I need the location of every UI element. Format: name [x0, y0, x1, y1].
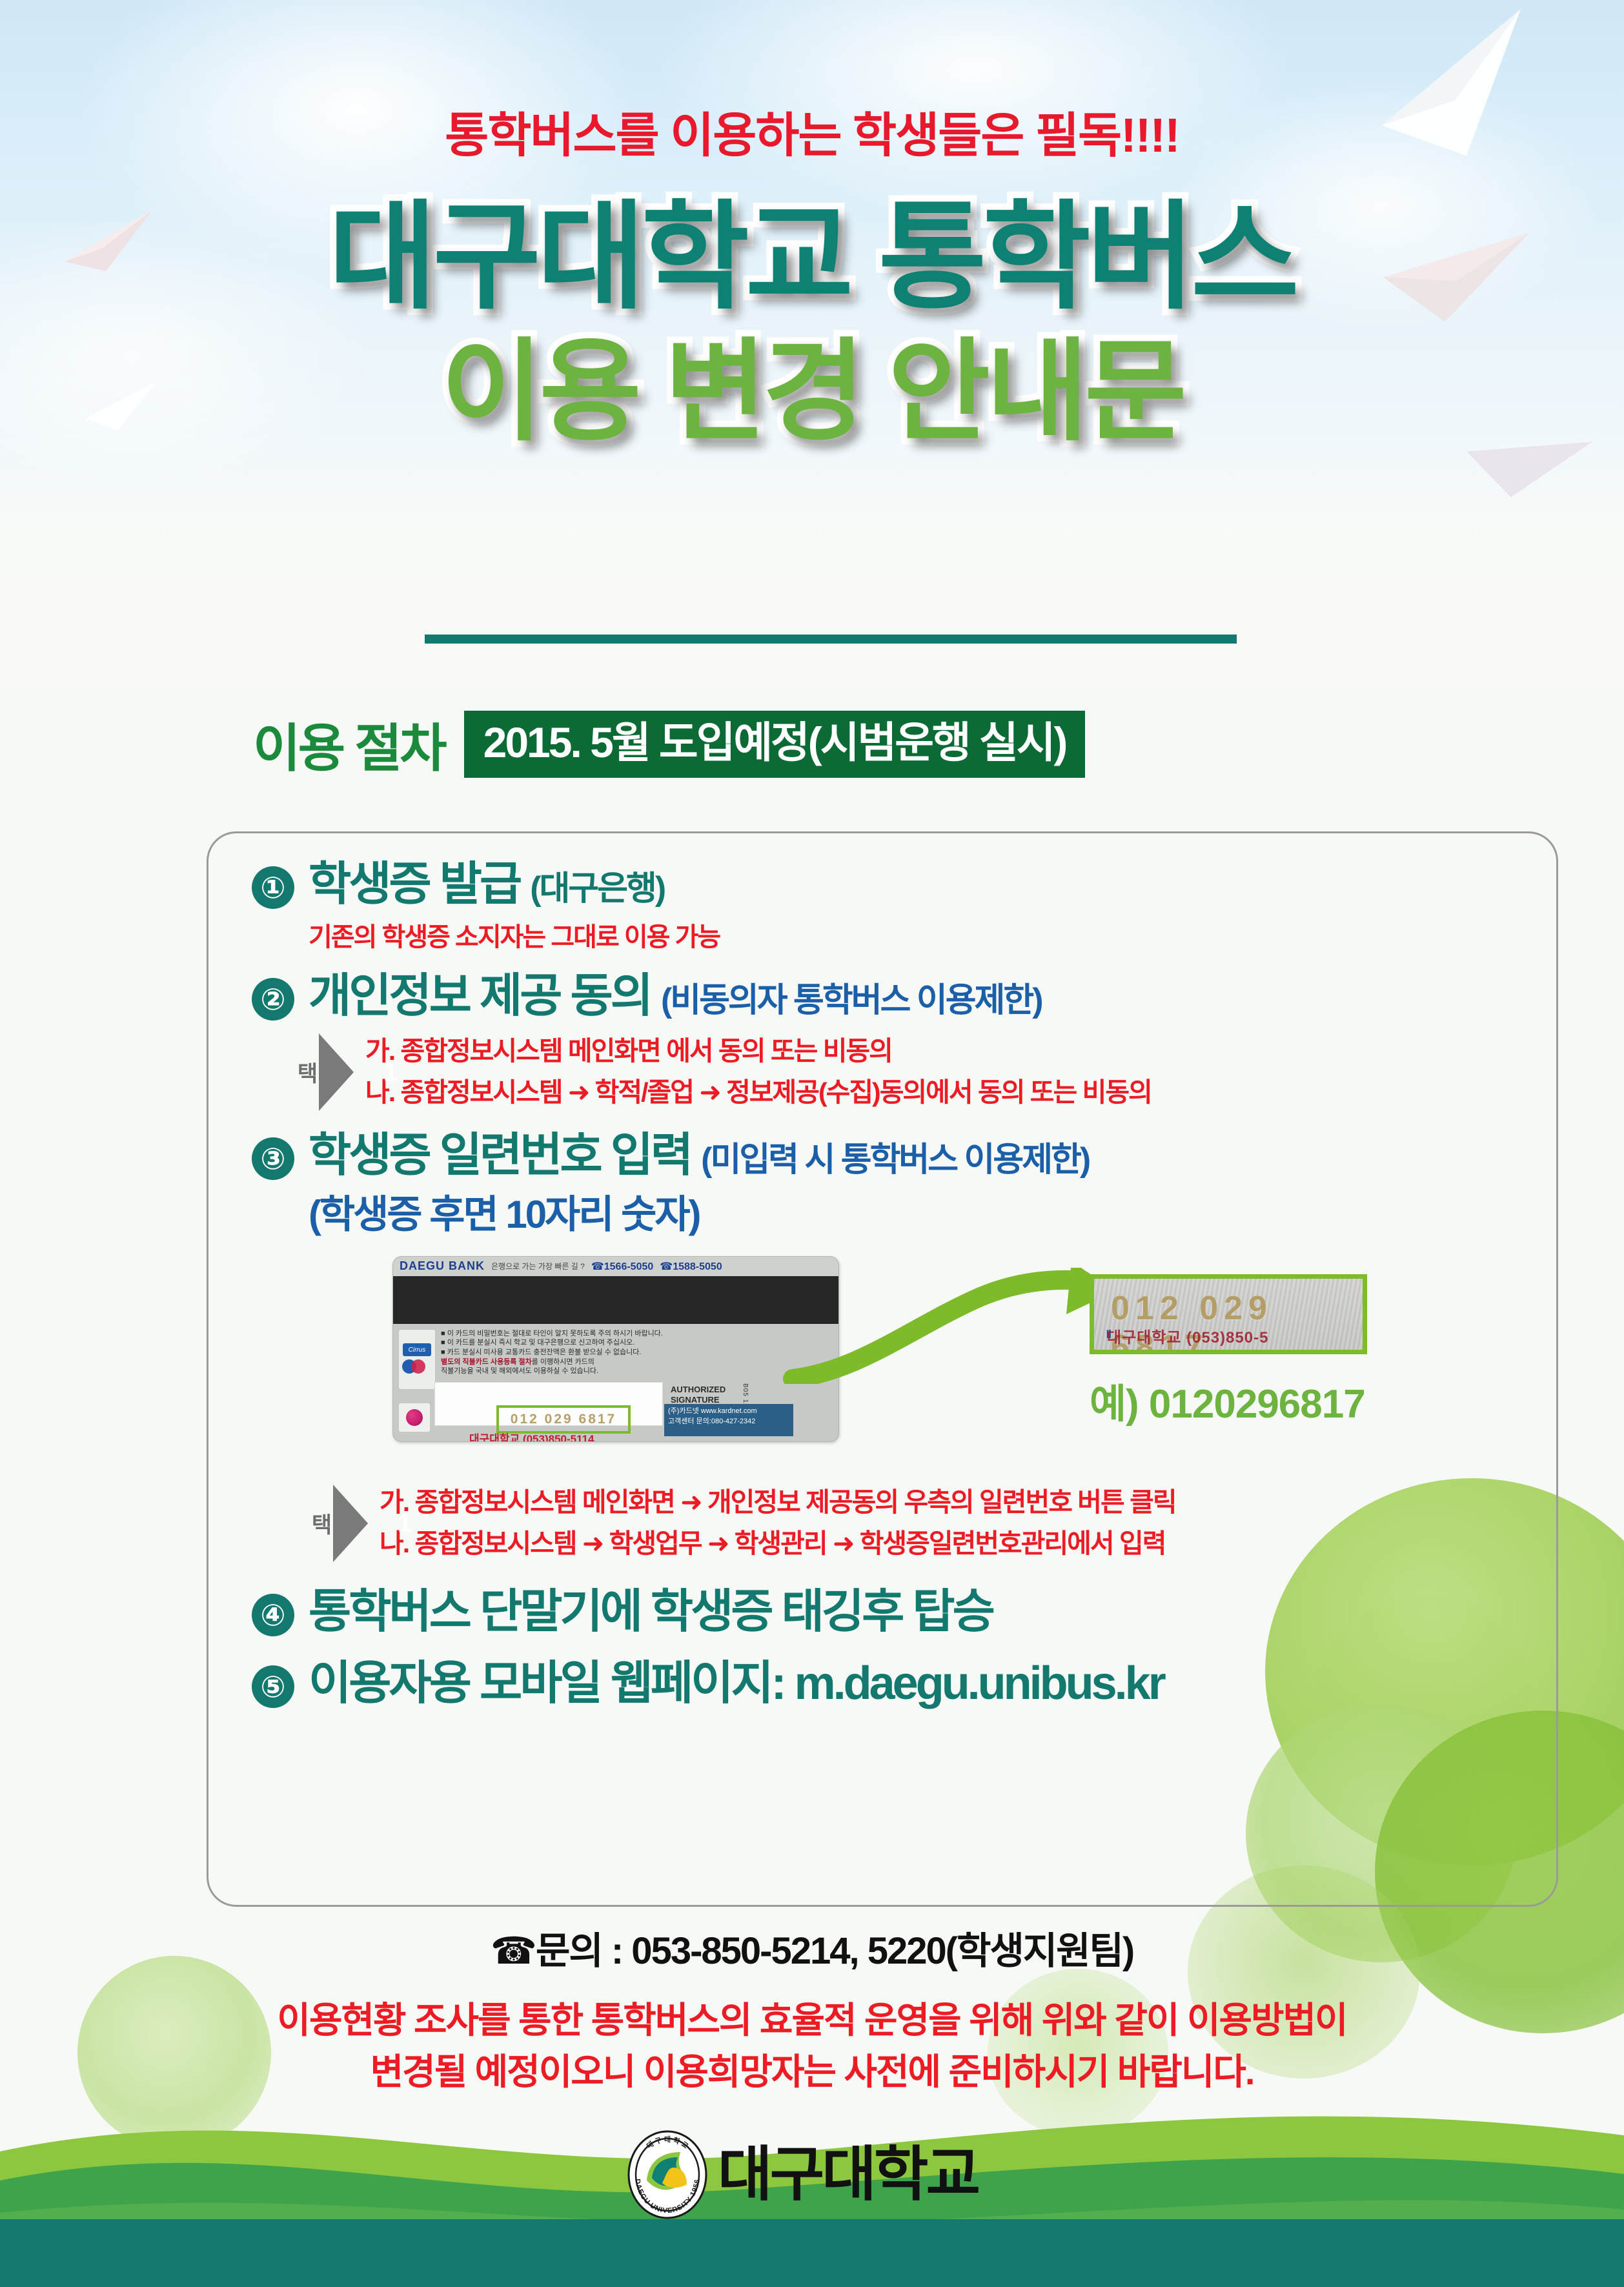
serial-callout: 012 029 6817 ᅵᅵ 대구대학교 (053)850-5 예) 0120… — [1090, 1274, 1451, 1429]
phone-icon: ☎ — [491, 1930, 536, 1972]
card-serial-number: 012 029 6817 — [511, 1412, 616, 1427]
choice-row: 가. 종합정보시스템 메인화면 ➜ 개인정보 제공동의 우측의 일련번호 버튼 … — [380, 1482, 1556, 1523]
step-heading: 개인정보 제공 동의 (비동의자 통학버스 이용제한) — [309, 970, 1556, 1022]
choice-group: 택 1 가. 종합정보시스템 메인화면 에서 동의 또는 비동의 나. 종합정보… — [294, 1031, 1556, 1113]
poster-title: 대구대학교 통학버스 이용 변경 안내문 — [0, 194, 1624, 452]
bank-name: DAEGU BANK — [400, 1259, 485, 1273]
step-heading-note: (대구은행) — [530, 870, 664, 908]
student-card-illustration: DAEGU BANK 은행으로 가는 가장 빠른 길 ? ☎1566-5050 … — [392, 1256, 1556, 1469]
choice-row: 가. 종합정보시스템 메인화면 에서 동의 또는 비동의 — [365, 1031, 1556, 1072]
step-item: ③ 학생증 일련번호 입력 (미입력 시 통학버스 이용제한) (학생증 후면 … — [252, 1130, 1556, 1564]
serial-example: 예) 0120296817 — [1090, 1371, 1451, 1429]
step-heading-main: 개인정보 제공 동의 — [309, 970, 661, 1022]
footer-note-line: 변경될 예정이오니 이용희망자는 사전에 준비하시기 바랍니다. — [0, 2046, 1624, 2098]
step-heading-main: 학생증 일련번호 입력 — [309, 1130, 701, 1181]
choice-badge: 택 1 — [294, 1032, 356, 1113]
step-number-badge: ④ — [252, 1594, 294, 1636]
step-heading-note: (미입력 시 통학버스 이용제한) — [701, 1141, 1089, 1179]
step-heading: 이용자용 모바일 웹페이지: m.daegu.unibus.kr — [309, 1658, 1556, 1710]
step-heading-note: (비동의자 통학버스 이용제한) — [661, 982, 1042, 1019]
choice-tag-label: 택 — [294, 1062, 316, 1083]
magnified-serial-box: 012 029 6817 ᅵᅵ 대구대학교 (053)850-5 — [1090, 1274, 1367, 1354]
magnified-red-fragment: 대구대학교 (053)850-5 — [1107, 1325, 1268, 1347]
card-warning-text: ■ 이 카드의 비밀번호는 절대로 타인이 알지 못하도록 주의 하시기 바랍니… — [441, 1329, 832, 1376]
step-heading: 통학버스 단말기에 학생증 태깅후 탑승 — [309, 1586, 1556, 1638]
step-item: ② 개인정보 제공 동의 (비동의자 통학버스 이용제한) — [252, 970, 1556, 1022]
university-logo: 대 구 대 학 교 DAEGU UNIVERSITY 1956 대구대학교 — [626, 2130, 978, 2219]
bank-tel-2: ☎1588-5050 — [660, 1260, 722, 1273]
title-divider — [425, 635, 1237, 644]
title-line-1: 대구대학교 통학버스 — [0, 194, 1624, 321]
step-heading-main: 학생증 발급 — [309, 859, 530, 910]
title-line-2: 이용 변경 안내문 — [0, 332, 1624, 452]
poster-root: 통학버스를 이용하는 학생들은 필독!!!! 대구대학교 통학버스 이용 변경 … — [0, 0, 1624, 2287]
debit-card-icon — [398, 1403, 431, 1432]
arrow-right-icon: 1 — [319, 1033, 354, 1111]
card-bottom-area: AUTHORIZEDSIGNATURE서 명 B05 1201H 012 029… — [393, 1399, 838, 1442]
card-network-logos: Cirrus — [398, 1329, 436, 1390]
choice-number: 1 — [383, 1059, 398, 1085]
magnetic-stripe — [393, 1276, 838, 1324]
green-curved-arrow-icon — [780, 1268, 1128, 1384]
card-university-line: 대구대학교 (053)850-5114 — [469, 1430, 594, 1442]
arrow-right-icon: 1 — [333, 1485, 368, 1562]
step-number-badge: ③ — [252, 1137, 294, 1180]
kardnet-block: (주)카드넷 www.kardnet.com 고객센터 문의:080-427-2… — [664, 1404, 793, 1436]
bank-tagline: 은행으로 가는 가장 빠른 길 ? — [491, 1261, 585, 1272]
kardnet-title: (주)카드넷 — [668, 1407, 699, 1415]
step-number-badge: ① — [252, 866, 294, 909]
daegu-university-emblem-icon: 대 구 대 학 교 DAEGU UNIVERSITY 1956 — [626, 2130, 709, 2219]
card-top-strip: DAEGU BANK 은행으로 가는 가장 빠른 길 ? ☎1566-5050 … — [393, 1257, 838, 1276]
footer-bar — [0, 2219, 1624, 2287]
step-item: ⑤ 이용자용 모바일 웹페이지: m.daegu.unibus.kr — [252, 1658, 1556, 1710]
choice-badge: 택 1 — [309, 1483, 370, 1564]
footer-note: 이용현황 조사를 통한 통학버스의 효율적 운영을 위해 위와 같이 이용방법이… — [0, 1995, 1624, 2097]
card-warning-highlight: 별도의 직불카드 사용등록 절차 — [441, 1358, 532, 1366]
card-warning-line: 별도의 직불카드 사용등록 절차를 이행하시면 카드의 — [441, 1357, 832, 1367]
step-heading: 학생증 발급 (대구은행) — [309, 859, 1556, 911]
step-number-badge: ② — [252, 978, 294, 1021]
bank-tel-1: ☎1566-5050 — [591, 1260, 653, 1273]
step-subline: 기존의 학생증 소지자는 그대로 이용 가능 — [309, 916, 1556, 953]
choice-group: 택 1 가. 종합정보시스템 메인화면 ➜ 개인정보 제공동의 우측의 일련번호… — [309, 1482, 1556, 1564]
bank-card-back: DAEGU BANK 은행으로 가는 가장 빠른 길 ? ☎1566-5050 … — [392, 1256, 839, 1442]
footer-note-line: 이용현황 조사를 통한 통학버스의 효율적 운영을 위해 위와 같이 이용방법이 — [0, 1995, 1624, 2046]
kardnet-contact: 고객센터 문의:080-427-2342 — [668, 1418, 755, 1425]
kicker-text: 통학버스를 이용하는 학생들은 필독!!!! — [0, 97, 1624, 166]
steps-list: ① 학생증 발급 (대구은행) 기존의 학생증 소지자는 그대로 이용 가능 ②… — [252, 859, 1556, 1709]
choice-tag-label: 택 — [309, 1513, 330, 1534]
step-number-badge: ⑤ — [252, 1665, 294, 1708]
university-wordmark: 대구대학교 — [718, 2145, 978, 2204]
maestro-icon — [402, 1358, 432, 1375]
contact-line: ☎문의 : 053-850-5214, 5220(학생지원팀) — [0, 1920, 1624, 1975]
choice-row: 나. 종합정보시스템 ➜ 학적/졸업 ➜ 정보제공(수집)동의에서 동의 또는 … — [365, 1072, 1556, 1113]
cirrus-icon: Cirrus — [403, 1343, 431, 1356]
choice-row: 나. 종합정보시스템 ➜ 학생업무 ➜ 학생관리 ➜ 학생증일련번호관리에서 입… — [380, 1523, 1556, 1565]
contact-text: 문의 : 053-850-5214, 5220(학생지원팀) — [536, 1930, 1133, 1972]
step-item: ① 학생증 발급 (대구은행) 기존의 학생증 소지자는 그대로 이용 가능 — [252, 859, 1556, 953]
step-heading-line2: (학생증 후면 10자리 숫자) — [309, 1183, 1556, 1239]
section-header: 이용 절차 2015. 5월 도입예정(시범운행 실시) — [253, 707, 1085, 782]
step-heading: 학생증 일련번호 입력 (미입력 시 통학버스 이용제한) — [309, 1130, 1556, 1182]
step-item: ④ 통학버스 단말기에 학생증 태깅후 탑승 — [252, 1586, 1556, 1638]
section-banner: 2015. 5월 도입예정(시범운행 실시) — [464, 711, 1086, 778]
card-warning-line: ■ 이 카드의 비밀번호는 절대로 타인이 알지 못하도록 주의 하시기 바랍니… — [441, 1329, 832, 1339]
card-warning-line: ■ 이 카드를 분실시 즉시 학교 및 대구은행으로 신고하여 주십시오. — [441, 1338, 832, 1348]
card-warning-line: 직불기능을 국내 및 해외에서도 이용하실 수 있습니다. — [441, 1367, 832, 1376]
choice-number: 1 — [398, 1510, 412, 1536]
kardnet-url: www.kardnet.com — [701, 1407, 757, 1415]
card-warning-line: ■ 카드 분실시 미사용 교통카드 충전잔액은 환불 받으실 수 없습니다. — [441, 1348, 832, 1357]
section-label: 이용 절차 — [253, 707, 445, 782]
